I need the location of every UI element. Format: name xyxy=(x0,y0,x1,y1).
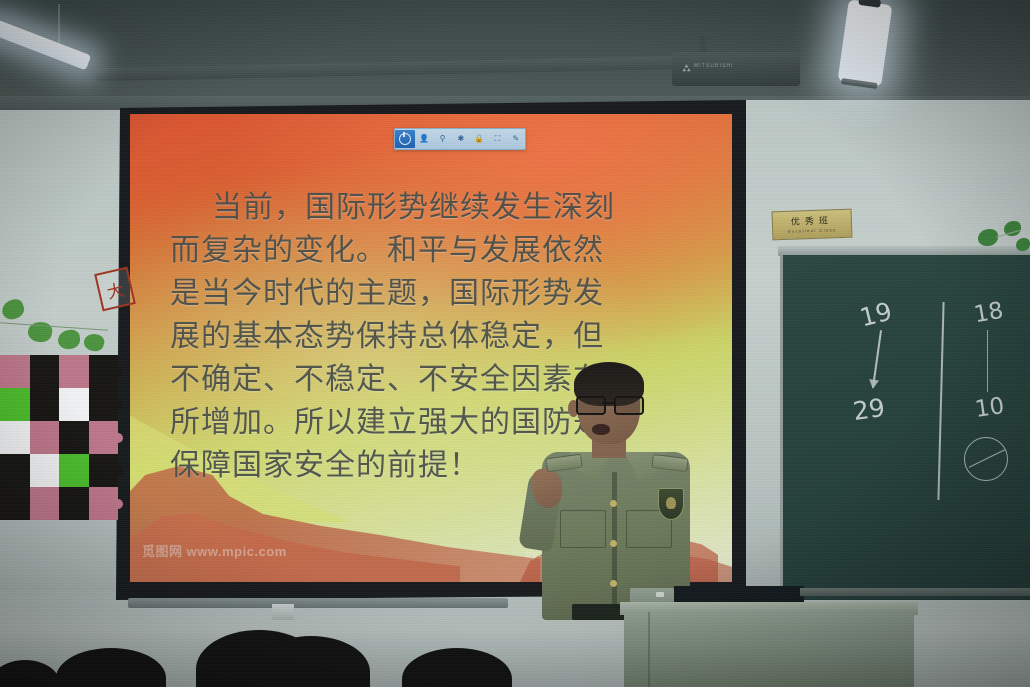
slide-line: 而复杂的变化。和平与发展依然 xyxy=(170,229,700,272)
chalk-number-bottom-right: 10 xyxy=(973,393,1006,423)
puzzle-piece xyxy=(59,487,89,520)
chalk-number-top-right: 18 xyxy=(972,298,1005,329)
puzzle-piece xyxy=(0,421,30,454)
uniform-button xyxy=(610,500,617,507)
puzzle-piece xyxy=(0,487,30,520)
uniform-pocket-left xyxy=(560,510,606,548)
uniform-arm-patch xyxy=(658,488,684,520)
chalk-circle-mark xyxy=(964,437,1008,481)
slide-line: 当前，国际形势继续发生深刻 xyxy=(170,186,700,229)
puzzle-piece xyxy=(89,454,119,487)
slide-floating-toolbar[interactable]: 👤 ⚲ ✱ 🔒 ⛶ ✎ xyxy=(394,128,526,150)
power-icon[interactable] xyxy=(395,130,415,148)
light-stem xyxy=(58,4,60,46)
slide-line: 展的基本态势保持总体稳定，但 xyxy=(170,315,700,358)
puzzle-piece xyxy=(89,355,119,388)
puzzle-piece xyxy=(89,487,119,520)
plaque-chinese-text: 优秀班 xyxy=(791,216,833,226)
podium xyxy=(624,612,914,687)
pointer-icon[interactable]: ✱ xyxy=(452,130,470,148)
person-icon[interactable]: 👤 xyxy=(415,130,433,148)
desk-rail xyxy=(800,588,1030,596)
puzzle-piece xyxy=(30,355,60,388)
puzzle-piece xyxy=(59,421,89,454)
presenter xyxy=(530,360,705,620)
image-icon[interactable]: ⛶ xyxy=(488,130,506,148)
puzzle-piece xyxy=(59,388,89,421)
lock-icon[interactable]: 🔒 xyxy=(470,130,488,148)
puzzle-piece xyxy=(59,454,89,487)
puzzle-piece xyxy=(0,388,30,421)
puzzle-wall-decoration xyxy=(0,355,118,520)
projector-brand-label: MITSUBISHI xyxy=(694,63,734,69)
screen-weight-bar xyxy=(128,598,508,608)
puzzle-piece xyxy=(89,421,119,454)
plaque-english-text: Excellent Class xyxy=(788,227,836,234)
chalk-number-bottom-left: 29 xyxy=(851,393,887,426)
uniform-button xyxy=(610,580,617,587)
puzzle-piece xyxy=(30,454,60,487)
puzzle-piece xyxy=(59,355,89,388)
podium-edge xyxy=(648,612,650,687)
chalk-connector-line xyxy=(987,330,988,392)
puzzle-piece xyxy=(30,421,60,454)
uniform-button xyxy=(610,540,617,547)
eyeglasses-icon xyxy=(576,396,642,411)
puzzle-piece xyxy=(30,487,60,520)
presenter-mouth xyxy=(592,424,610,435)
puzzle-piece xyxy=(30,388,60,421)
puzzle-piece xyxy=(89,388,119,421)
classroom-scene: MITSUBISHI 👤 ⚲ ✱ 🔒 ⛶ ✎ 当前，国际形势继续发生深刻 xyxy=(0,0,1030,687)
puzzle-piece xyxy=(0,355,30,388)
brush-icon[interactable]: ✎ xyxy=(507,130,525,148)
slide-line: 是当今时代的主题，国际形势发 xyxy=(170,272,700,315)
mitsubishi-logo-icon xyxy=(682,64,691,72)
ceiling-projector: MITSUBISHI xyxy=(672,52,800,86)
screen-pull-tab[interactable] xyxy=(272,604,294,620)
search-icon[interactable]: ⚲ xyxy=(433,130,451,148)
wall-plaque: 优秀班 Excellent Class xyxy=(772,209,853,241)
puzzle-piece xyxy=(0,454,30,487)
slide-watermark-left: 觅图网 www.mpic.com xyxy=(142,541,287,560)
